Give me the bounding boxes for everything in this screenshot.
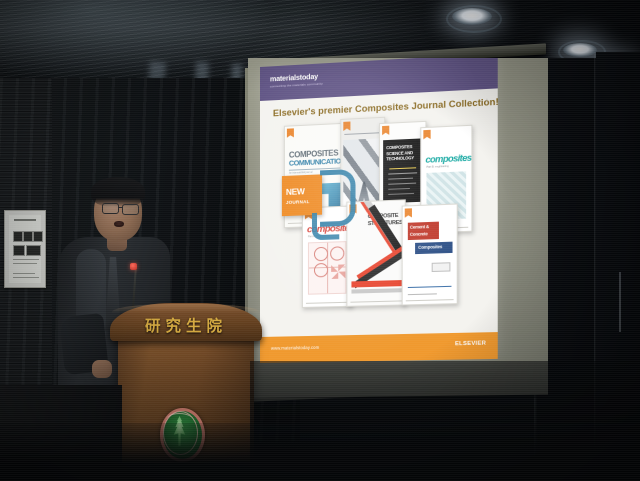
projected-slide: materialstoday connecting the materials … [260, 58, 498, 363]
cover-text-line [388, 183, 416, 185]
slide-page-number: 1 [486, 97, 488, 102]
wall-poster-thumb [13, 231, 23, 242]
wall-poster-thumb [23, 231, 33, 242]
eyeglasses-right-lens [122, 204, 139, 215]
wall-poster-thumb [26, 245, 41, 256]
wall-poster-line [13, 277, 39, 278]
podium-panel-highlight [112, 304, 260, 313]
cover-title-line2: Composites [418, 244, 450, 250]
cover-title-block-red: Cement & Concrete [408, 222, 439, 240]
ceiling-light-2 [563, 43, 597, 57]
cover-small-box [432, 262, 451, 272]
cover-geometric-art [347, 200, 404, 305]
cover-subtitle: Part B: engineering [426, 165, 448, 169]
elsevier-tree-icon [287, 128, 294, 137]
elsevier-tree-icon [405, 208, 412, 217]
cover-title-line1: Cement & Concrete [410, 224, 437, 238]
wall-poster-title-bar [14, 219, 36, 221]
cover-footer-rule [306, 302, 348, 304]
cover-text-line [408, 293, 437, 295]
projection-screen: materialstoday connecting the materials … [248, 58, 548, 398]
slide-header-band: materialstoday connecting the materials … [260, 58, 498, 101]
journal-cover-cement-concrete-composites: Cement & Concrete Composites [402, 203, 458, 305]
cover-title-line1: composites [425, 153, 471, 165]
podium-sign-text: 研究生院 [112, 314, 260, 336]
slide-footer-url: www.materialstoday.com [271, 345, 319, 351]
wall-poster-line [13, 263, 37, 264]
elsevier-wordmark: ELSEVIER [455, 341, 486, 348]
wall-poster-thumb [13, 245, 25, 256]
badge-arrow-tail [312, 212, 339, 240]
journal-cover-composite-structures: COMPOSITE STRUCTURES [346, 199, 405, 307]
projection-screen-assembly: materialstoday connecting the materials … [248, 52, 548, 397]
stage-floor [0, 423, 640, 481]
speaker-hand [92, 360, 112, 378]
eyeglasses-bridge [118, 207, 123, 208]
cover-text-line [388, 178, 413, 180]
speaker-mouth [114, 221, 124, 227]
cover-title-line2: SCIENCE AND TECHNOLOGY [386, 150, 419, 162]
wall-poster-thumb [33, 231, 43, 242]
journal-cover-collage: COMPOSITES COMMUNICATIONS An internation… [282, 112, 487, 309]
cover-text-line [388, 193, 414, 195]
speaker-hair [91, 177, 145, 207]
cover-rule [389, 167, 416, 169]
eyeglasses-left-lens [102, 203, 119, 214]
cover-footer-rule [406, 299, 454, 301]
new-journal-badge-line2: JOURNAL [286, 199, 310, 205]
cover-rule [344, 132, 381, 135]
elsevier-tree-icon [382, 126, 389, 136]
cover-title-line2: COMMUNICATIONS [289, 157, 342, 167]
new-journal-badge-line1: NEW [286, 186, 305, 197]
slide-footer-band: www.materialstoday.com ELSEVIER [260, 332, 498, 363]
elsevier-tree-icon [343, 122, 350, 131]
cover-text-line [388, 172, 417, 174]
microphone-head[interactable] [130, 263, 137, 270]
cover-title-block-blue: Composites [415, 242, 452, 254]
new-journal-badge: NEW JOURNAL [282, 174, 322, 216]
wall-poster [4, 210, 46, 288]
wall-poster-sheet [9, 215, 41, 283]
cover-rule [408, 286, 452, 288]
door-handle[interactable] [619, 272, 621, 332]
elsevier-tree-icon [423, 130, 430, 140]
cover-figure [308, 241, 346, 295]
wall-poster-line [13, 259, 39, 260]
ceiling-light-1 [452, 8, 492, 25]
cover-text-line [388, 188, 410, 190]
cover-black-panel: COMPOSITES SCIENCE AND TECHNOLOGY [383, 138, 422, 203]
lecture-hall-photo: materialstoday connecting the materials … [0, 0, 640, 481]
wall-poster-line [13, 273, 35, 274]
